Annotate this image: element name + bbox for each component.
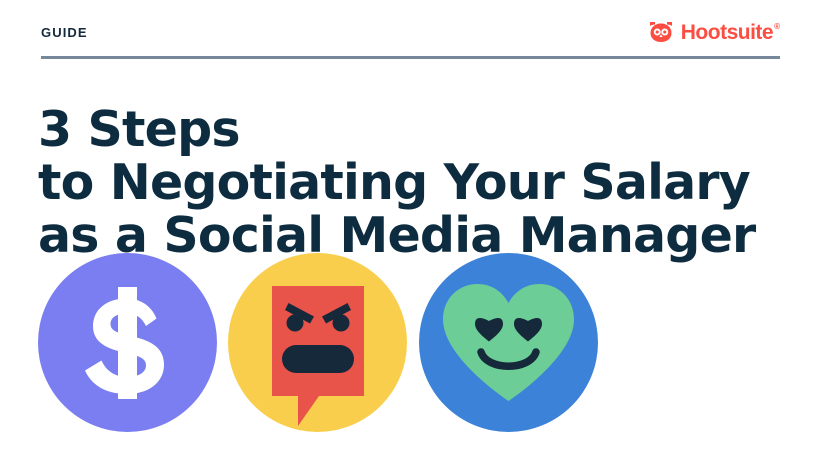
hootsuite-wordmark: Hootsuite ®: [681, 22, 780, 43]
guide-cover-page: GUIDE Hootsuite ® 3 Steps to Negotiating…: [0, 0, 820, 464]
page-title: 3 Steps to Negotiating Your Salary as a …: [38, 103, 798, 262]
header-divider: [41, 56, 780, 59]
dollar-sign-icon: [38, 253, 217, 432]
page-title-line-2: to Negotiating Your Salary: [38, 156, 798, 209]
angry-speech-bubble-icon: [228, 253, 407, 432]
hootsuite-logo: Hootsuite ®: [648, 19, 780, 45]
dollar-sign-badge: [38, 253, 217, 432]
angry-speech-bubble-badge: [228, 253, 407, 432]
hootsuite-wordmark-text: Hootsuite: [681, 22, 773, 43]
illustration-icon-row: [38, 253, 598, 433]
eyebrow-label: GUIDE: [41, 26, 88, 39]
registered-trademark-mark: ®: [774, 23, 780, 31]
hootsuite-owl-icon: [648, 20, 674, 44]
heart-smiley-icon: [419, 253, 598, 432]
page-header: GUIDE Hootsuite ®: [41, 18, 780, 46]
heart-smiley-badge: [419, 253, 598, 432]
page-title-line-1: 3 Steps: [38, 103, 798, 156]
